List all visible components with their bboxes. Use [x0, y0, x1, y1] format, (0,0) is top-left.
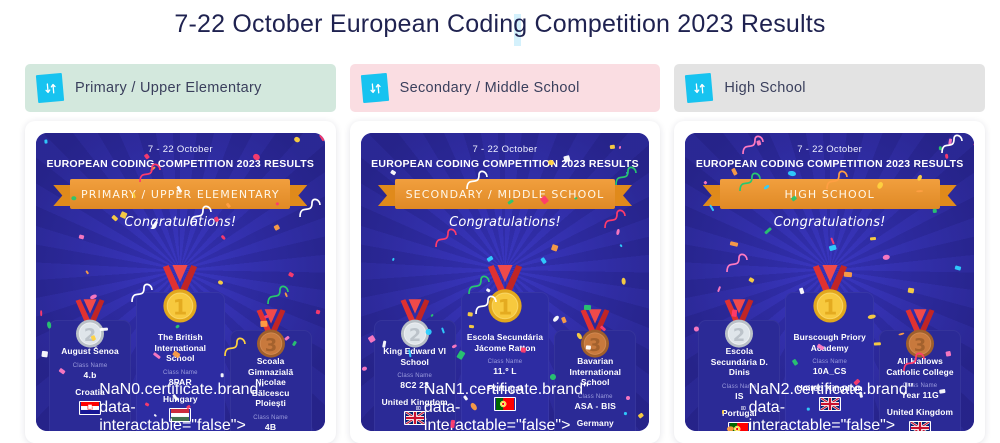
category-column-3: High School7 - 22 OctoberEUROPEAN CODING… [674, 64, 985, 443]
svg-text:1: 1 [498, 295, 513, 319]
certificate-headline: EUROPEAN CODING COMPETITION 2023 RESULTS [36, 158, 325, 170]
svg-text:2: 2 [409, 326, 421, 346]
svg-text:1: 1 [173, 295, 188, 319]
winner-school-name: The British International School [140, 332, 221, 364]
winner-school-name: Escola Secundária Jácome Ratton [465, 332, 546, 353]
class-name-label: Class Name [488, 359, 523, 365]
certificate-panel: 7 - 22 OctoberEUROPEAN CODING COMPETITIO… [25, 121, 336, 443]
category-tab-label: Primary / Upper Elementary [75, 80, 262, 96]
category-column-1: Primary / Upper Elementary7 - 22 October… [25, 64, 336, 443]
page-title-text: 7-22 October European Coding Competition… [174, 10, 825, 38]
category-tab-3[interactable]: High School [674, 64, 985, 112]
certificate: 7 - 22 OctoberEUROPEAN CODING COMPETITIO… [361, 133, 650, 431]
class-name-label: Class Name [73, 363, 108, 369]
congratulations-text: Congratulations! [36, 215, 325, 230]
medal-1-icon: 1 [811, 265, 849, 329]
page-title: 7-22 October European Coding Competition… [0, 10, 1000, 39]
certificate-date: 7 - 22 October [361, 144, 650, 155]
ribbon-body: HIGH SCHOOL [720, 179, 940, 209]
certificate-date: 7 - 22 October [36, 144, 325, 155]
certificate-date: 7 - 22 October [685, 144, 974, 155]
certificate-panel: 7 - 22 OctoberEUROPEAN CODING COMPETITIO… [350, 121, 661, 443]
category-tab-1[interactable]: Primary / Upper Elementary [25, 64, 336, 112]
svg-text:2: 2 [733, 326, 745, 346]
sort-icon[interactable] [685, 73, 713, 103]
svg-text:3: 3 [914, 336, 926, 356]
results-page: 7-22 October European Coding Competition… [0, 0, 1000, 443]
medal-3-icon: 3 [579, 309, 611, 364]
congratulations-text: Congratulations! [685, 215, 974, 230]
ribbon-label: HIGH SCHOOL [785, 188, 875, 201]
winner-class-name: 11.º L [493, 366, 516, 376]
ribbon-label: PRIMARY / UPPER ELEMENTARY [81, 188, 280, 201]
ribbon-label: SECONDARY / MIDDLE SCHOOL [406, 188, 605, 201]
medal-3-icon: 3 [904, 309, 936, 364]
category-tab-label: High School [724, 80, 806, 96]
codementum-logo: NaN0.certificate.brand" data-interactabl… [91, 381, 269, 431]
sort-icon[interactable] [36, 73, 64, 103]
certificate: 7 - 22 OctoberEUROPEAN CODING COMPETITIO… [685, 133, 974, 431]
class-name-label: Class Name [163, 370, 198, 376]
category-ribbon: SECONDARY / MIDDLE SCHOOL [378, 179, 632, 209]
certificate-panel: 7 - 22 OctoberEUROPEAN CODING COMPETITIO… [674, 121, 985, 443]
congratulations-text: Congratulations! [361, 215, 650, 230]
certificate-headline: EUROPEAN CODING COMPETITION 2023 RESULTS [361, 158, 650, 170]
medal-2-icon: 2 [723, 299, 755, 354]
medal-2-icon: 2 [399, 299, 431, 354]
winner-class-name: 4.b [84, 370, 97, 380]
category-ribbon: PRIMARY / UPPER ELEMENTARY [53, 179, 307, 209]
svg-text:1: 1 [822, 295, 837, 319]
svg-text:2: 2 [84, 326, 96, 346]
category-columns: Primary / Upper Elementary7 - 22 October… [25, 64, 985, 443]
category-tab-2[interactable]: Secondary / Middle School [350, 64, 661, 112]
certificate-headline: EUROPEAN CODING COMPETITION 2023 RESULTS [685, 158, 974, 170]
category-ribbon: HIGH SCHOOL [703, 179, 957, 209]
medal-3-icon: 3 [255, 309, 287, 364]
medal-2-icon: 2 [74, 299, 106, 354]
winner-class-name: 10A_CS [813, 366, 847, 376]
svg-text:3: 3 [265, 336, 277, 356]
category-tab-label: Secondary / Middle School [400, 80, 580, 96]
class-name-label: Class Name [397, 373, 432, 379]
certificate: 7 - 22 OctoberEUROPEAN CODING COMPETITIO… [36, 133, 325, 431]
codementum-logo: NaN2.certificate.brand" data-interactabl… [741, 381, 919, 431]
class-name-label: Class Name [812, 359, 847, 365]
svg-text:3: 3 [589, 336, 601, 356]
medal-1-icon: 1 [161, 265, 199, 329]
sort-icon[interactable] [361, 73, 389, 103]
codementum-logo: NaN1.certificate.brand" data-interactabl… [416, 381, 594, 431]
winner-school-name: Burscough Priory Academy [789, 332, 870, 353]
category-column-2: Secondary / Middle School7 - 22 OctoberE… [350, 64, 661, 443]
ribbon-body: SECONDARY / MIDDLE SCHOOL [395, 179, 615, 209]
ribbon-body: PRIMARY / UPPER ELEMENTARY [70, 179, 290, 209]
medal-1-icon: 1 [486, 265, 524, 329]
